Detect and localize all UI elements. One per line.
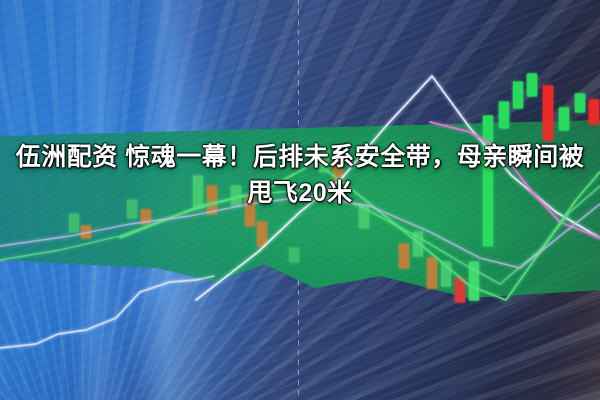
candlestick xyxy=(427,248,436,300)
candlestick xyxy=(499,92,508,140)
candlestick xyxy=(513,70,522,120)
candlestick xyxy=(527,62,536,108)
candlestick xyxy=(441,252,450,298)
thumbnail-image: 伍洲配资 惊魂一幕！后排未系安全带，母亲瞬间被 甩飞20米 xyxy=(0,0,600,400)
candlestick xyxy=(289,238,298,272)
headline-line-2: 甩飞20米 xyxy=(6,176,594,212)
candlestick xyxy=(469,252,478,312)
candlestick xyxy=(575,82,584,126)
candlestick xyxy=(399,232,408,282)
headline-text: 伍洲配资 惊魂一幕！后排未系安全带，母亲瞬间被 甩飞20米 xyxy=(0,140,600,211)
candlestick xyxy=(589,90,598,136)
candlestick xyxy=(455,268,464,318)
headline-line-1: 伍洲配资 惊魂一幕！后排未系安全带，母亲瞬间被 xyxy=(6,140,594,176)
chart-line-white-step-line-left xyxy=(0,276,214,348)
candlestick xyxy=(257,212,266,262)
candlestick xyxy=(559,96,568,142)
